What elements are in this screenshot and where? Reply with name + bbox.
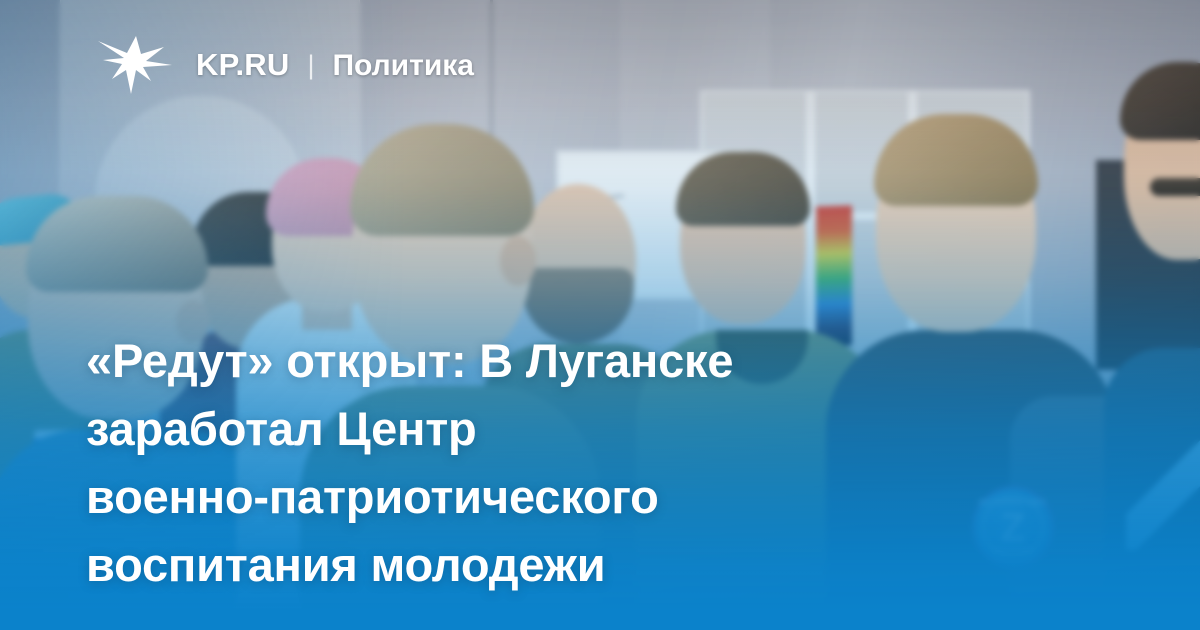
kp-swallow-bird-icon[interactable] — [96, 34, 174, 96]
brand-divider: | — [307, 52, 314, 79]
rubric-label[interactable]: Политика — [332, 51, 473, 81]
brand-row: KP.RU | Политика — [196, 49, 474, 81]
headline: «Редут» открыт: В Луганске заработал Цен… — [86, 327, 986, 599]
card-header: KP.RU | Политика — [96, 34, 474, 96]
social-share-card: ВЕТЕРАН СВО Z РОССИЯ KP.RU | Политика «Р… — [0, 0, 1200, 630]
brand-name[interactable]: KP.RU — [196, 49, 289, 80]
